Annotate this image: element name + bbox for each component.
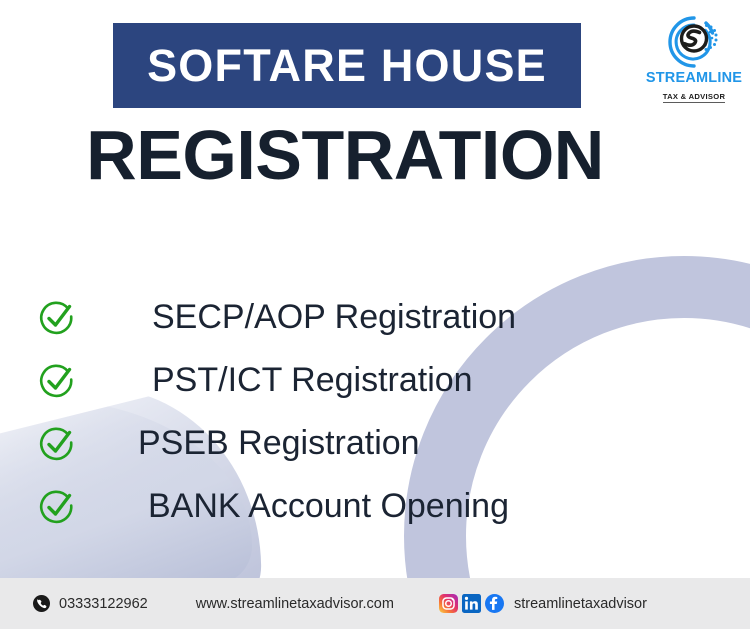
streamline-s-emblem-icon xyxy=(666,14,722,70)
footer-website[interactable]: www.streamlinetaxadvisor.com xyxy=(196,596,394,612)
facebook-icon[interactable] xyxy=(485,594,504,613)
brand-logo: STREAMLINE TAX & ADVISOR xyxy=(645,14,743,106)
list-item-label: BANK Account Opening xyxy=(148,487,509,526)
poster-canvas: SOFTARE HOUSE REGISTRATION xyxy=(0,0,750,629)
check-circle-icon xyxy=(38,362,76,400)
page-title: REGISTRATION xyxy=(0,115,690,195)
list-item-label: SECP/AOP Registration xyxy=(152,298,516,337)
footer-website-url: www.streamlinetaxadvisor.com xyxy=(196,596,394,612)
linkedin-icon[interactable] xyxy=(462,594,481,613)
check-circle-icon xyxy=(38,299,76,337)
footer-social-handle: streamlinetaxadvisor xyxy=(514,596,647,612)
logo-brand-name: STREAMLINE xyxy=(645,71,743,86)
footer-social: streamlinetaxadvisor xyxy=(439,594,647,613)
check-circle-icon xyxy=(38,488,76,526)
service-list: SECP/AOP Registration PST/ICT Registrati… xyxy=(38,286,658,538)
subtitle-banner: SOFTARE HOUSE xyxy=(113,23,581,108)
footer-phone[interactable]: 03333122962 xyxy=(33,595,148,612)
instagram-icon[interactable] xyxy=(439,594,458,613)
list-item: SECP/AOP Registration xyxy=(38,286,658,349)
list-item-label: PST/ICT Registration xyxy=(152,361,473,400)
list-item: PSEB Registration xyxy=(38,412,658,475)
footer-contact-bar: 03333122962 www.streamlinetaxadvisor.com xyxy=(0,578,750,629)
list-item-label: PSEB Registration xyxy=(138,424,420,463)
list-item: BANK Account Opening xyxy=(38,475,658,538)
list-item: PST/ICT Registration xyxy=(38,349,658,412)
phone-icon xyxy=(33,595,50,612)
social-icon-group xyxy=(439,594,504,613)
subtitle-text: SOFTARE HOUSE xyxy=(147,40,547,92)
footer-phone-number: 03333122962 xyxy=(59,596,148,612)
check-circle-icon xyxy=(38,425,76,463)
logo-tagline: TAX & ADVISOR xyxy=(663,92,726,103)
